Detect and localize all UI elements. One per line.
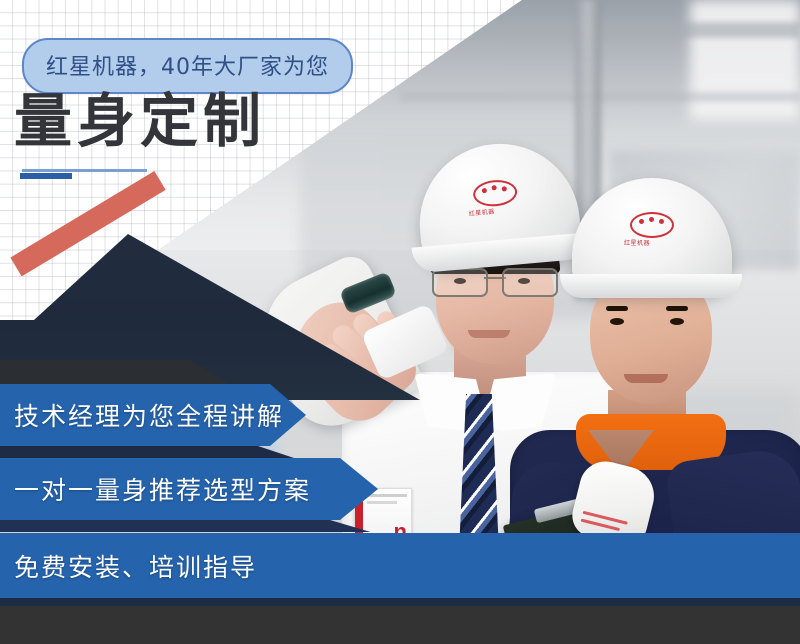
badge-line — [367, 501, 397, 504]
feature-banner-2-label: 一对一量身推荐选型方案 — [14, 471, 311, 507]
tagline-pill: 红星机器，40年大厂家为您 — [22, 38, 353, 94]
page-title: 量身定制 — [14, 92, 266, 150]
bottom-bar — [0, 598, 800, 644]
helmet-logo-text: 红星机器 — [624, 238, 650, 247]
feature-banner-3: 免费安装、培训指导 — [0, 533, 800, 598]
feature-banner-2: 一对一量身推荐选型方案 — [0, 458, 378, 520]
feature-banner-1-shadow — [0, 446, 300, 460]
eyebrow-right — [666, 306, 688, 311]
feature-banner-3-label: 免费安装、培训指导 — [14, 548, 257, 584]
headline-underline-bold — [20, 173, 72, 179]
headline-underline-thin — [22, 169, 147, 172]
helmet-logo-icon — [630, 212, 674, 238]
promo-banner: n 红星机器 — [0, 0, 800, 644]
eyebrow-left — [606, 306, 628, 311]
badge-line — [367, 494, 407, 497]
tagline-text: 红星机器，40年大厂家为您 — [46, 55, 329, 80]
feature-banner-1: 技术经理为您全程讲解 — [0, 384, 306, 446]
window-glare — [690, 0, 800, 120]
eye-right — [670, 318, 684, 325]
feature-banner-2-shadow — [0, 520, 374, 532]
eye-left — [610, 318, 624, 325]
feature-banner-1-label: 技术经理为您全程讲解 — [14, 397, 284, 433]
white-hard-hat: 红星机器 — [572, 178, 732, 294]
mouth — [624, 374, 668, 383]
